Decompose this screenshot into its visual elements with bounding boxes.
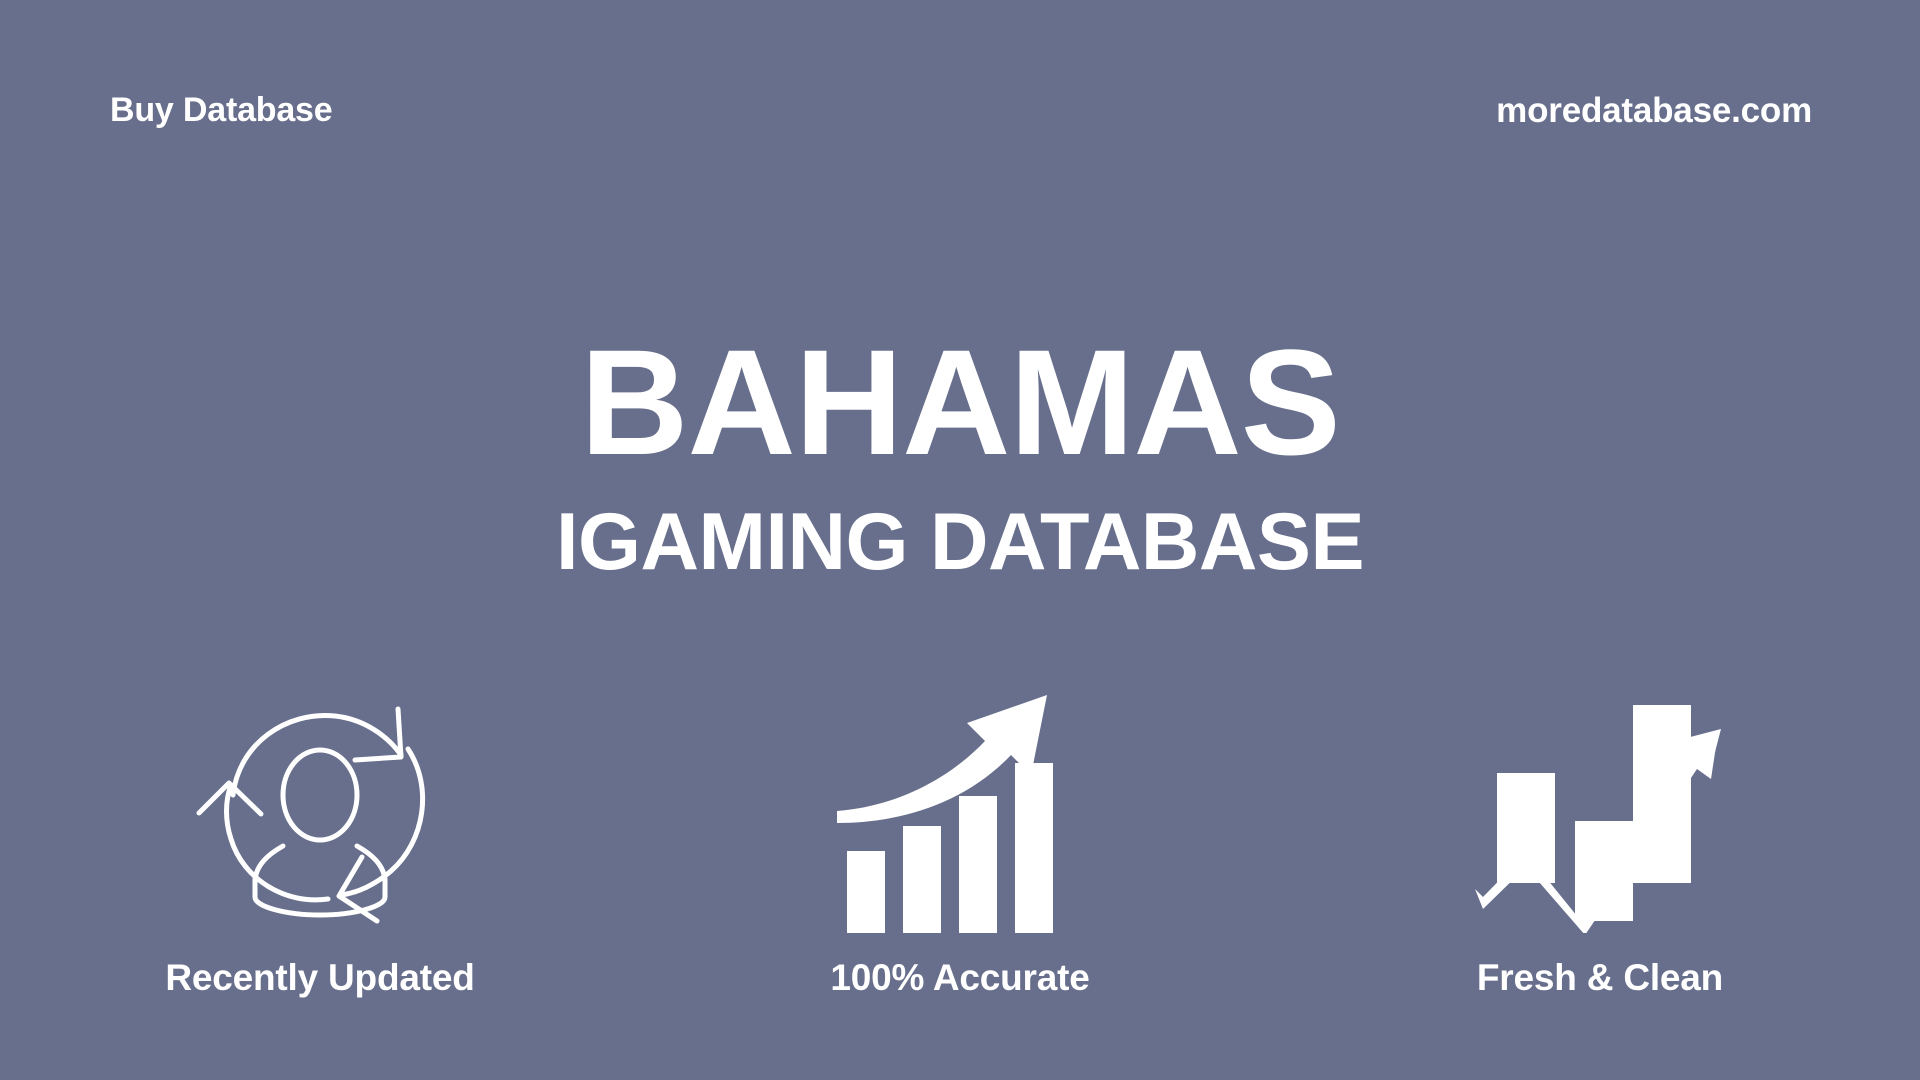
feature-item-recently-updated: Recently Updated xyxy=(40,670,600,996)
site-url: moredatabase.com xyxy=(1496,93,1812,128)
growth-bar-chart-arrow-icon xyxy=(835,670,1085,945)
feature-label: Fresh & Clean xyxy=(1477,959,1723,996)
hero-section: BAHAMAS IGAMING DATABASE xyxy=(0,330,1920,583)
feature-item-fresh-clean: Fresh & Clean xyxy=(1320,670,1880,996)
page-subtitle: IGAMING DATABASE xyxy=(0,502,1920,583)
brand-label: Buy Database xyxy=(110,93,332,127)
feature-row: Recently Updated 100% Accurate xyxy=(0,670,1920,1080)
feature-item-accurate: 100% Accurate xyxy=(680,670,1240,996)
page-title: BAHAMAS xyxy=(0,330,1920,474)
page-header: Buy Database moredatabase.com xyxy=(0,0,1920,220)
feature-label: Recently Updated xyxy=(165,959,474,996)
feature-label: 100% Accurate xyxy=(830,959,1089,996)
bar-chart-zigzag-arrow-icon xyxy=(1475,670,1725,945)
person-refresh-cycle-icon xyxy=(195,670,445,945)
